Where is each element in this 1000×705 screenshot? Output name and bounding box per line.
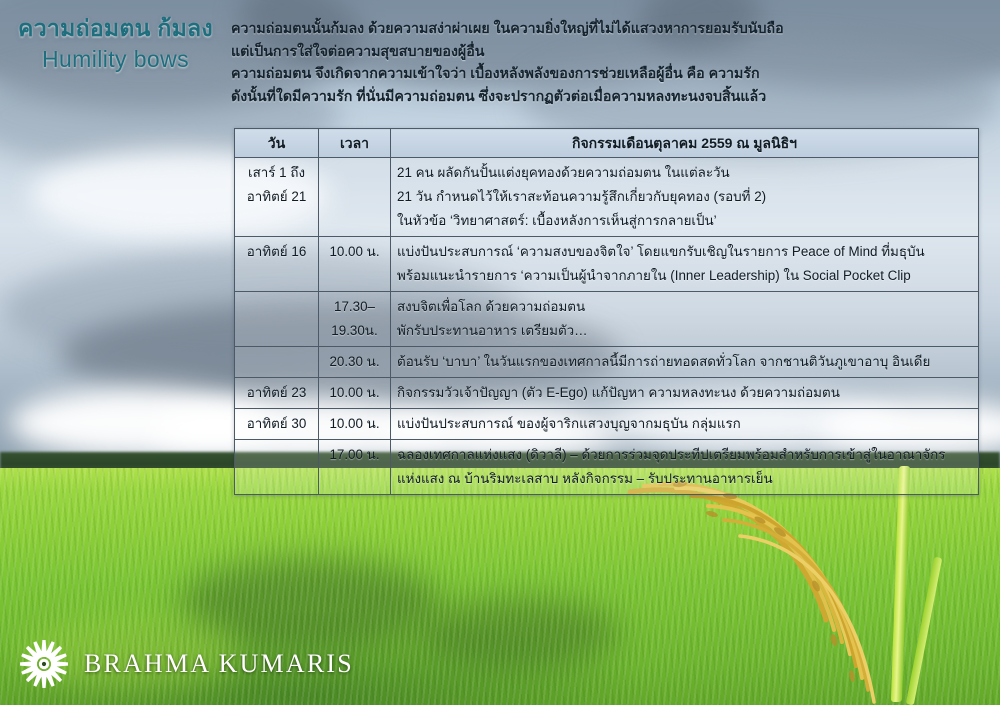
cell-day — [235, 347, 319, 378]
rice-stalk-icon — [620, 470, 1000, 705]
cell-time: 17.30– 19.30น. — [319, 292, 391, 347]
cell-time: 20.30 น. — [319, 347, 391, 378]
table-row: อาทิตย์ 30 10.00 น. แบ่งปันประสบการณ์ ขอ… — [235, 409, 979, 440]
time-line: 17.00 น. — [325, 443, 384, 467]
activity-line: ฉลองเทศกาลแห่งแสง (ดิวาลี) – ด้วยการร่วม… — [397, 443, 972, 467]
cell-time: 17.00 น. — [319, 440, 391, 495]
cell-day: เสาร์ 1 ถึง อาทิตย์ 21 — [235, 158, 319, 237]
activity-line: พักรับประทานอาหาร เตรียมตัว… — [397, 319, 972, 343]
table-row: เสาร์ 1 ถึง อาทิตย์ 21 21 คน ผลัดกันปั้น… — [235, 158, 979, 237]
activity-line: กิจกรรมวัวเจ้าปัญญา (ตัว E-Ego) แก้ปัญหา… — [397, 381, 972, 405]
activity-line: 21 คน ผลัดกันปั้นแต่งยุคทองด้วยความถ่อมต… — [397, 161, 972, 185]
schedule-table-body: เสาร์ 1 ถึง อาทิตย์ 21 21 คน ผลัดกันปั้น… — [235, 158, 979, 495]
cell-day — [235, 292, 319, 347]
cell-time — [319, 158, 391, 237]
rice-stalk — [620, 470, 1000, 705]
sunburst-star-svg — [18, 638, 70, 690]
column-header-time: เวลา — [319, 129, 391, 158]
intro-paragraph: ความถ่อมตนนั้นก้มลง ด้วยความสง่าผ่าเผย ใ… — [231, 18, 991, 108]
column-header-day: วัน — [235, 129, 319, 158]
time-line: 20.30 น. — [325, 350, 384, 374]
time-line: 10.00 น. — [325, 412, 384, 436]
time-line: 17.30– — [325, 295, 384, 319]
activity-line: แบ่งปันประสบการณ์ ‘ความสงบของจิตใจ’ โดยแ… — [397, 240, 972, 264]
cell-activity: แบ่งปันประสบการณ์ ของผู้จาริกแสวงบุญจากม… — [391, 409, 979, 440]
intro-line: ความถ่อมตน จึงเกิดจากความเข้าใจว่า เบื้อ… — [231, 63, 991, 86]
day-line: เสาร์ 1 ถึง — [241, 161, 312, 185]
cell-activity: ฉลองเทศกาลแห่งแสง (ดิวาลี) – ด้วยการร่วม… — [391, 440, 979, 495]
cell-time: 10.00 น. — [319, 409, 391, 440]
cell-activity: 21 คน ผลัดกันปั้นแต่งยุคทองด้วยความถ่อมต… — [391, 158, 979, 237]
activity-line: 21 วัน กำหนดไว้ให้เราสะท้อนความรู้สึกเกี… — [397, 185, 972, 209]
table-row: 20.30 น. ต้อนรับ ‘บาบา’ ในวันแรกของเทศกา… — [235, 347, 979, 378]
table-row: 17.00 น. ฉลองเทศกาลแห่งแสง (ดิวาลี) – ด้… — [235, 440, 979, 495]
cell-activity: แบ่งปันประสบการณ์ ‘ความสงบของจิตใจ’ โดยแ… — [391, 237, 979, 292]
brahma-kumaris-logo: BRAHMA KUMARIS — [18, 638, 354, 690]
intro-line: ความถ่อมตนนั้นก้มลง ด้วยความสง่าผ่าเผย ใ… — [231, 18, 991, 41]
time-line: 10.00 น. — [325, 240, 384, 264]
logo-wordmark: BRAHMA KUMARIS — [84, 649, 354, 679]
day-line: อาทิตย์ 21 — [241, 185, 312, 209]
activity-line: พร้อมแนะนำรายการ ‘ความเป็นผู้นำจากภายใน … — [397, 264, 972, 288]
column-header-activity: กิจกรรมเดือนตุลาคม 2559 ณ มูลนิธิฯ — [391, 129, 979, 158]
cell-activity: กิจกรรมวัวเจ้าปัญญา (ตัว E-Ego) แก้ปัญหา… — [391, 378, 979, 409]
table-header-row: วัน เวลา กิจกรรมเดือนตุลาคม 2559 ณ มูลนิ… — [235, 129, 979, 158]
activity-line: ในหัวข้อ ‘วิทยาศาสตร์: เบื้องหลังการเห็น… — [397, 209, 972, 233]
title-english: Humility bows — [8, 43, 223, 76]
sunburst-star-icon — [18, 638, 70, 690]
title-thai: ความถ่อมตน ก้มลง — [8, 14, 223, 43]
day-line: อาทิตย์ 30 — [241, 412, 312, 436]
schedule-table: วัน เวลา กิจกรรมเดือนตุลาคม 2559 ณ มูลนิ… — [234, 128, 979, 495]
day-line: อาทิตย์ 23 — [241, 381, 312, 405]
cell-day: อาทิตย์ 16 — [235, 237, 319, 292]
schedule-table-container: วัน เวลา กิจกรรมเดือนตุลาคม 2559 ณ มูลนิ… — [234, 128, 979, 495]
time-line: 19.30น. — [325, 319, 384, 343]
intro-line: ดังนั้นที่ใดมีความรัก ที่นั่นมีความถ่อมต… — [231, 86, 991, 109]
activity-line: แบ่งปันประสบการณ์ ของผู้จาริกแสวงบุญจากม… — [397, 412, 972, 436]
day-line: อาทิตย์ 16 — [241, 240, 312, 264]
table-row: อาทิตย์ 16 10.00 น. แบ่งปันประสบการณ์ ‘ค… — [235, 237, 979, 292]
table-row: อาทิตย์ 23 10.00 น. กิจกรรมวัวเจ้าปัญญา … — [235, 378, 979, 409]
cell-day: อาทิตย์ 23 — [235, 378, 319, 409]
activity-line: ต้อนรับ ‘บาบา’ ในวันแรกของเทศกาลนี้มีการ… — [397, 350, 972, 374]
intro-line: แต่เป็นการใส่ใจต่อความสุขสบายของผู้อื่น — [231, 41, 991, 64]
cell-activity: สงบจิตเพื่อโลก ด้วยความถ่อมตน พักรับประท… — [391, 292, 979, 347]
activity-line: สงบจิตเพื่อโลก ด้วยความถ่อมตน — [397, 295, 972, 319]
table-row: 17.30– 19.30น. สงบจิตเพื่อโลก ด้วยความถ่… — [235, 292, 979, 347]
cell-activity: ต้อนรับ ‘บาบา’ ในวันแรกของเทศกาลนี้มีการ… — [391, 347, 979, 378]
cell-time: 10.00 น. — [319, 378, 391, 409]
poster-title: ความถ่อมตน ก้มลง Humility bows — [8, 14, 223, 76]
cell-day — [235, 440, 319, 495]
cell-day: อาทิตย์ 30 — [235, 409, 319, 440]
activity-line: แห่งแสง ณ บ้านริมทะเลสาบ หลังกิจกรรม – ร… — [397, 467, 972, 491]
time-line: 10.00 น. — [325, 381, 384, 405]
poster-canvas: ความถ่อมตน ก้มลง Humility bows ความถ่อมต… — [0, 0, 1000, 705]
cell-time: 10.00 น. — [319, 237, 391, 292]
